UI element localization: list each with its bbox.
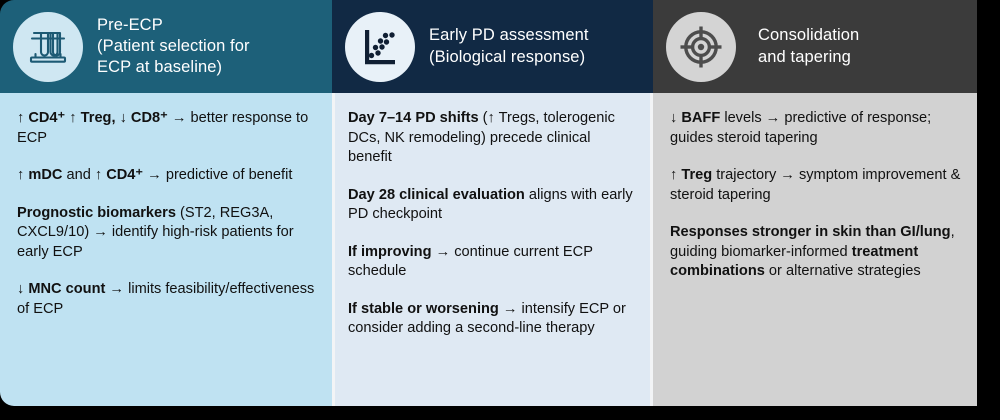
bullet-item: If stable or worsening → intensify ECP o… — [348, 300, 637, 339]
column-body-pre-ecp: ↑ CD4⁺ ↑ Treg, ↓ CD8⁺ → better response … — [0, 93, 332, 406]
bullet-item: Responses stronger in skin than GI/lung,… — [670, 223, 961, 282]
bullet-item: If improving → continue current ECP sche… — [348, 243, 637, 282]
bullet-lead: ↑ CD4⁺ ↑ Treg, ↓ CD8⁺ — [17, 110, 168, 126]
title-line-1: Early PD assessment — [429, 25, 639, 46]
bullet-item: ↑ CD4⁺ ↑ Treg, ↓ CD8⁺ → better response … — [17, 109, 316, 148]
column-title-pre-ecp: Pre-ECP (Patient selection for ECP at ba… — [83, 15, 322, 78]
title-line-2: (Biological response) — [429, 47, 639, 68]
bullet-item: Prognostic biomarkers (ST2, REG3A, CXCL9… — [17, 204, 316, 263]
bullet-lead: Day 7–14 PD shifts — [348, 110, 479, 126]
bullet-rest-2: or alternative strategies — [765, 263, 921, 279]
scatter-plot-icon — [345, 12, 415, 82]
stage-board: Pre-ECP (Patient selection for ECP at ba… — [0, 0, 977, 406]
test-tube-rack-icon — [13, 12, 83, 82]
bullet-lead: Responses stronger in skin than GI/lung — [670, 224, 951, 240]
target-crosshair-icon — [666, 12, 736, 82]
bullet-lead: ↓ MNC count — [17, 281, 105, 297]
column-body-early-pd-assessment: Day 7–14 PD shifts (↑ Tregs, tolerogenic… — [332, 93, 653, 406]
column-divider — [650, 93, 653, 406]
bullet-item: Day 28 clinical evaluation aligns with e… — [348, 186, 637, 225]
bullet-lead: If improving — [348, 244, 432, 260]
three-stage-infographic: Pre-ECP (Patient selection for ECP at ba… — [0, 0, 1000, 420]
stage-column-consolidation-and-tapering: Consolidation and tapering ↓ BAFF levels… — [653, 0, 977, 406]
bullet-lead: Day 28 clinical evaluation — [348, 187, 525, 203]
bullet-item: Day 7–14 PD shifts (↑ Tregs, tolerogenic… — [348, 109, 637, 168]
title-line-3: ECP at baseline) — [97, 57, 318, 78]
bullet-lead: Prognostic biomarkers — [17, 205, 176, 221]
bullet-mid: and — [62, 167, 94, 183]
stage-column-early-pd-assessment: Early PD assessment (Biological response… — [332, 0, 653, 406]
bullet-lead: ↓ BAFF — [670, 110, 720, 126]
bullet-rest: → predictive of benefit — [143, 167, 292, 183]
column-header-early-pd-assessment: Early PD assessment (Biological response… — [332, 0, 653, 93]
title-line-2: (Patient selection for — [97, 36, 318, 57]
stage-column-pre-ecp: Pre-ECP (Patient selection for ECP at ba… — [0, 0, 332, 406]
column-title-early-pd-assessment: Early PD assessment (Biological response… — [415, 25, 643, 67]
column-title-consolidation-and-tapering: Consolidation and tapering — [736, 25, 967, 67]
bullet-item: ↓ BAFF levels → predictive of response; … — [670, 109, 961, 148]
bullet-lead: ↑ mDC — [17, 167, 62, 183]
bullet-item: ↓ MNC count → limits feasibility/effecti… — [17, 280, 316, 319]
title-line-1: Consolidation — [758, 25, 963, 46]
bullet-item: ↑ Treg trajectory → symptom improvement … — [670, 166, 961, 205]
bullet-item: ↑ mDC and ↑ CD4⁺ → predictive of benefit — [17, 166, 316, 186]
column-divider — [332, 93, 335, 406]
bullet-rest: trajectory → symptom improvement & stero… — [670, 167, 960, 203]
bullet-lead: If stable or worsening — [348, 301, 499, 317]
title-line-2: and tapering — [758, 47, 963, 68]
title-line-1: Pre-ECP — [97, 15, 318, 36]
column-body-consolidation-and-tapering: ↓ BAFF levels → predictive of response; … — [653, 93, 977, 406]
column-header-pre-ecp: Pre-ECP (Patient selection for ECP at ba… — [0, 0, 332, 93]
bullet-lead: ↑ Treg — [670, 167, 712, 183]
bullet-lead-2: ↑ CD4⁺ — [95, 167, 143, 183]
column-header-consolidation-and-tapering: Consolidation and tapering — [653, 0, 977, 93]
